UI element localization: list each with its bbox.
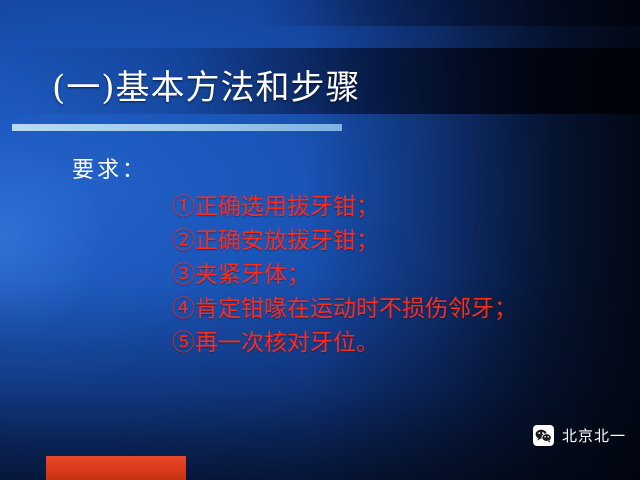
slide-canvas: (一)基本方法和步骤 要求： ①正确选用拔牙钳； ②正确安放拔牙钳； ③夹紧牙体…: [0, 0, 640, 480]
slide-title: (一)基本方法和步骤: [52, 60, 361, 109]
wechat-icon: [533, 425, 554, 446]
list-item: ②正确安放拔牙钳；: [172, 224, 517, 258]
list-item: ④肯定钳喙在运动时不损伤邻牙；: [172, 292, 517, 326]
list-item: ③夹紧牙体；: [172, 258, 517, 292]
list-item: ①正确选用拔牙钳；: [172, 190, 517, 224]
bottom-left-accent-box: [46, 456, 186, 480]
list-item: ⑤再一次核对牙位。: [172, 326, 517, 360]
requirement-list: ①正确选用拔牙钳； ②正确安放拔牙钳； ③夹紧牙体； ④肯定钳喙在运动时不损伤邻…: [172, 190, 517, 360]
background-top-strip: [0, 0, 640, 26]
watermark: 北京北一: [533, 425, 626, 446]
watermark-label: 北京北一: [562, 425, 626, 446]
title-underline-bar: [12, 124, 342, 131]
section-label: 要求：: [72, 152, 147, 184]
